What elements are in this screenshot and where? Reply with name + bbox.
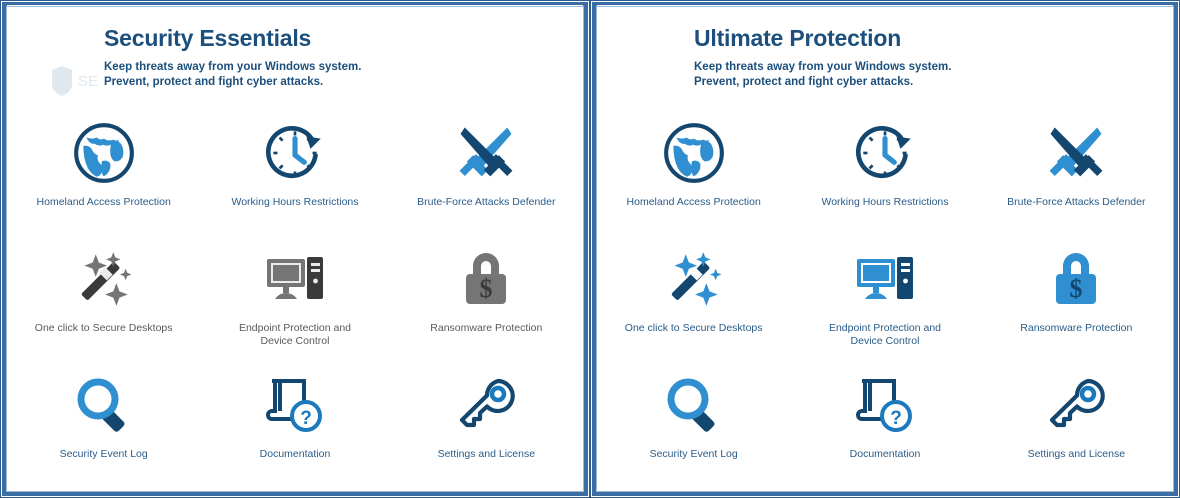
feature-label: Documentation [850, 448, 921, 461]
subtitle-line-2: Prevent, protect and fight cyber attacks… [694, 76, 913, 88]
feature-security-event-log[interactable]: Security Event Log [598, 360, 789, 486]
feature-one-click-to-secure-desktops[interactable]: One click to Secure Desktops [598, 234, 789, 360]
magnifier-icon [65, 366, 143, 444]
panel-security-essentials: SE Security Essentials Keep threats away… [0, 0, 590, 498]
feature-label: Working Hours Restrictions [231, 196, 358, 209]
watermark-logo-icon: SE [44, 60, 106, 100]
page-title: Security Essentials [8, 8, 582, 51]
feature-endpoint-protection-and-device-control[interactable]: Endpoint Protection and Device Control [789, 234, 980, 360]
feature-label: Settings and License [438, 448, 535, 461]
feature-ransomware-protection[interactable]: $ Ransomware Protection [391, 234, 582, 360]
feature-label: Brute-Force Attacks Defender [1007, 196, 1145, 209]
padlock-dollar-icon: $ [447, 240, 525, 318]
feature-grid: Homeland Access Protection [598, 108, 1172, 486]
feature-label: Security Event Log [650, 448, 738, 461]
clock-icon [846, 114, 924, 192]
feature-security-event-log[interactable]: Security Event Log [8, 360, 199, 486]
svg-text:?: ? [300, 408, 312, 429]
panel-ultimate-protection: Ultimate Protection Keep threats away fr… [590, 0, 1180, 498]
panel-body: SE Security Essentials Keep threats away… [8, 8, 582, 489]
feature-label: Working Hours Restrictions [821, 196, 948, 209]
feature-brute-force-attacks-defender[interactable]: Brute-Force Attacks Defender [981, 108, 1172, 234]
desktop-computer-icon [256, 240, 334, 318]
feature-label: One click to Secure Desktops [625, 322, 763, 335]
key-icon [447, 366, 525, 444]
subtitle-line-1: Keep threats away from your Windows syst… [104, 61, 361, 73]
subtitle-line-1: Keep threats away from your Windows syst… [694, 61, 951, 73]
frame-right-edge [1173, 2, 1178, 496]
feature-documentation[interactable]: ? Documentation [789, 360, 980, 486]
magnifier-icon [655, 366, 733, 444]
feature-ransomware-protection[interactable]: $ Ransomware Protection [981, 234, 1172, 360]
frame-top-edge [2, 2, 588, 5]
svg-text:?: ? [890, 408, 902, 429]
page-title: Ultimate Protection [598, 8, 1172, 51]
feature-label: Settings and License [1028, 448, 1125, 461]
feature-documentation[interactable]: ? Documentation [199, 360, 390, 486]
feature-label: Ransomware Protection [430, 322, 542, 335]
frame-right-edge [583, 2, 588, 496]
frame-top-edge [592, 2, 1178, 5]
key-icon [1037, 366, 1115, 444]
clock-icon [256, 114, 334, 192]
svg-text:$: $ [1070, 274, 1083, 303]
page-subtitle: Keep threats away from your Windows syst… [598, 51, 1172, 90]
globe-icon [655, 114, 733, 192]
feature-working-hours-restrictions[interactable]: Working Hours Restrictions [199, 108, 390, 234]
crossed-swords-icon [1037, 114, 1115, 192]
feature-endpoint-protection-and-device-control[interactable]: Endpoint Protection and Device Control [199, 234, 390, 360]
feature-label: One click to Secure Desktops [35, 322, 173, 335]
crossed-swords-icon [447, 114, 525, 192]
book-question-icon: ? [846, 366, 924, 444]
desktop-computer-icon [846, 240, 924, 318]
frame-bottom-edge [592, 491, 1178, 496]
feature-label: Documentation [260, 448, 331, 461]
book-question-icon: ? [256, 366, 334, 444]
feature-label: Ransomware Protection [1020, 322, 1132, 335]
svg-text:SE: SE [78, 73, 98, 90]
feature-homeland-access-protection[interactable]: Homeland Access Protection [598, 108, 789, 234]
feature-settings-and-license[interactable]: Settings and License [391, 360, 582, 486]
frame-left-edge [2, 2, 7, 496]
feature-label: Brute-Force Attacks Defender [417, 196, 555, 209]
frame-left-edge [592, 2, 597, 496]
feature-label: Endpoint Protection and Device Control [225, 322, 365, 348]
feature-label: Homeland Access Protection [627, 196, 761, 209]
feature-grid: Homeland Access Protection [8, 108, 582, 486]
feature-settings-and-license[interactable]: Settings and License [981, 360, 1172, 486]
application-window-pair: SE Security Essentials Keep threats away… [0, 0, 1180, 498]
feature-label: Homeland Access Protection [37, 196, 171, 209]
subtitle-line-2: Prevent, protect and fight cyber attacks… [104, 76, 323, 88]
frame-bottom-edge [2, 491, 588, 496]
feature-working-hours-restrictions[interactable]: Working Hours Restrictions [789, 108, 980, 234]
panel-body: Ultimate Protection Keep threats away fr… [598, 8, 1172, 489]
magic-wand-icon [655, 240, 733, 318]
padlock-dollar-icon: $ [1037, 240, 1115, 318]
feature-brute-force-attacks-defender[interactable]: Brute-Force Attacks Defender [391, 108, 582, 234]
feature-one-click-to-secure-desktops[interactable]: One click to Secure Desktops [8, 234, 199, 360]
feature-label: Endpoint Protection and Device Control [815, 322, 955, 348]
globe-icon [65, 114, 143, 192]
feature-homeland-access-protection[interactable]: Homeland Access Protection [8, 108, 199, 234]
feature-label: Security Event Log [60, 448, 148, 461]
svg-text:$: $ [480, 274, 493, 303]
magic-wand-icon [65, 240, 143, 318]
